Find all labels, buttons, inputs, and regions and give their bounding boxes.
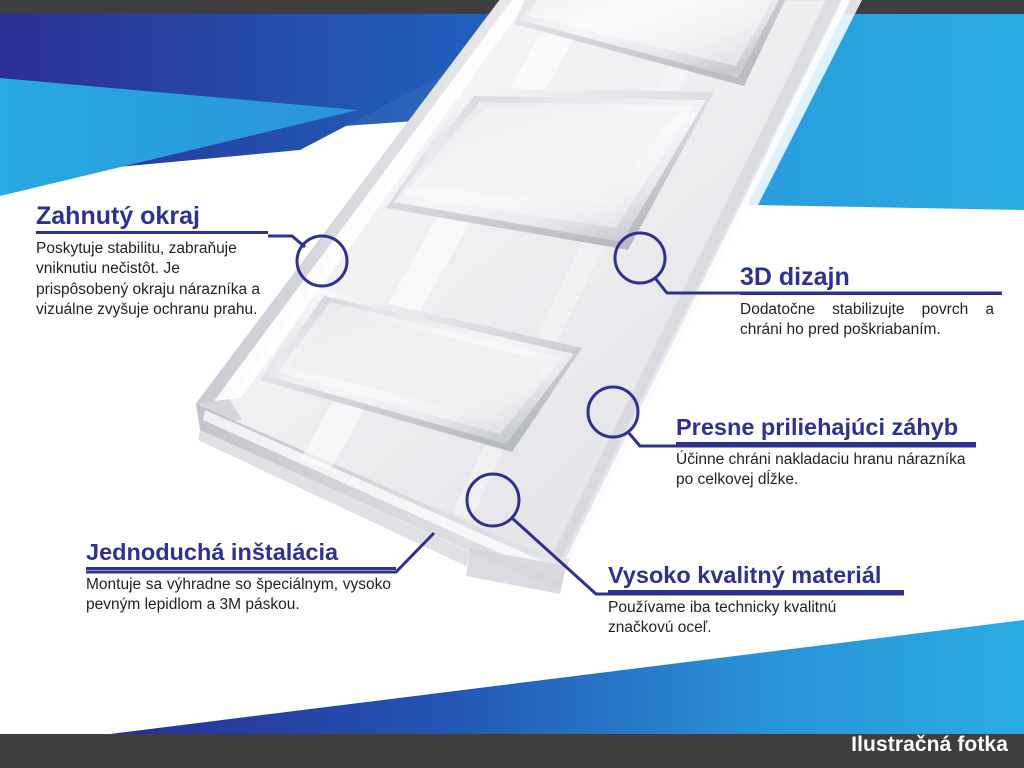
callout-body: Montuje sa výhradne so špeciálnym, vysok…	[86, 575, 391, 615]
marker-3-circle	[588, 387, 638, 437]
callout-3d-dizajn: 3D dizajn Dodatočne stabilizujte povrch …	[740, 264, 1002, 341]
callout-body: Používame iba technicky kvalitnú značkov…	[608, 598, 898, 638]
callout-title: 3D dizajn	[740, 264, 1002, 290]
callout-rule	[676, 442, 976, 445]
callout-body: Dodatočne stabilizujte povrch a chráni h…	[740, 300, 994, 340]
callout-title: Vysoko kvalitný materiál	[608, 563, 904, 588]
callout-title: Presne priliehajúci záhyb	[676, 415, 976, 440]
callout-rule	[86, 567, 396, 570]
callout-zahnuty-okraj: Zahnutý okraj Poskytuje stabilitu, zabra…	[36, 203, 268, 320]
callout-rule	[608, 590, 904, 593]
footer-caption: Ilustračná fotka	[851, 733, 1008, 757]
callout-body: Účinne chráni nakladaciu hranu nárazníka…	[676, 450, 968, 490]
marker-4-circle	[467, 474, 519, 526]
callout-rule	[36, 231, 268, 234]
callout-body: Poskytuje stabilitu, zabraňuje vniknutiu…	[36, 239, 264, 320]
callout-leader-lines	[0, 0, 1024, 768]
callout-title: Jednoduchá inštalácia	[86, 540, 396, 565]
infographic-canvas: Zahnutý okraj Poskytuje stabilitu, zabra…	[0, 0, 1024, 768]
marker-2-circle	[615, 233, 665, 283]
leader-line-1	[268, 236, 305, 247]
callout-vysoko-kvalitny-material: Vysoko kvalitný materiál Používame iba t…	[608, 563, 904, 638]
marker-1-circle	[297, 236, 347, 286]
callout-jednoducha-instalacia: Jednoduchá inštalácia Montuje sa výhradn…	[86, 540, 396, 615]
callout-rule	[740, 292, 1002, 295]
callout-presne-priliehajuci-zahyb: Presne priliehajúci záhyb Účinne chráni …	[676, 415, 976, 490]
callout-title: Zahnutý okraj	[36, 203, 268, 229]
